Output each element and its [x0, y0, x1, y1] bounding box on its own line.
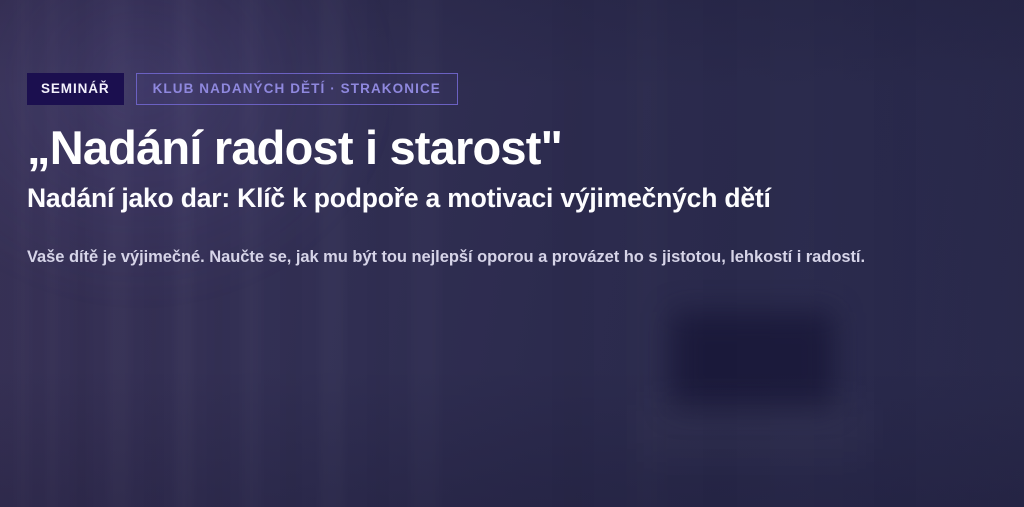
hero-content: SEMINÁŘ KLUB NADANÝCH DĚTÍ · STRAKONICE …	[0, 0, 1024, 269]
badge-event-type[interactable]: SEMINÁŘ	[27, 73, 124, 105]
background-light-smudge	[640, 392, 870, 462]
hero-banner: SEMINÁŘ KLUB NADANÝCH DĚTÍ · STRAKONICE …	[0, 0, 1024, 507]
badge-organizer-location[interactable]: KLUB NADANÝCH DĚTÍ · STRAKONICE	[136, 73, 458, 105]
page-subtitle: Nadání jako dar: Klíč k podpoře a motiva…	[27, 182, 996, 214]
page-lead-paragraph: Vaše dítě je výjimečné. Naučte se, jak m…	[27, 245, 995, 270]
badge-row: SEMINÁŘ KLUB NADANÝCH DĚTÍ · STRAKONICE	[27, 73, 996, 105]
page-title: „Nadání radost i starost"	[27, 123, 996, 172]
